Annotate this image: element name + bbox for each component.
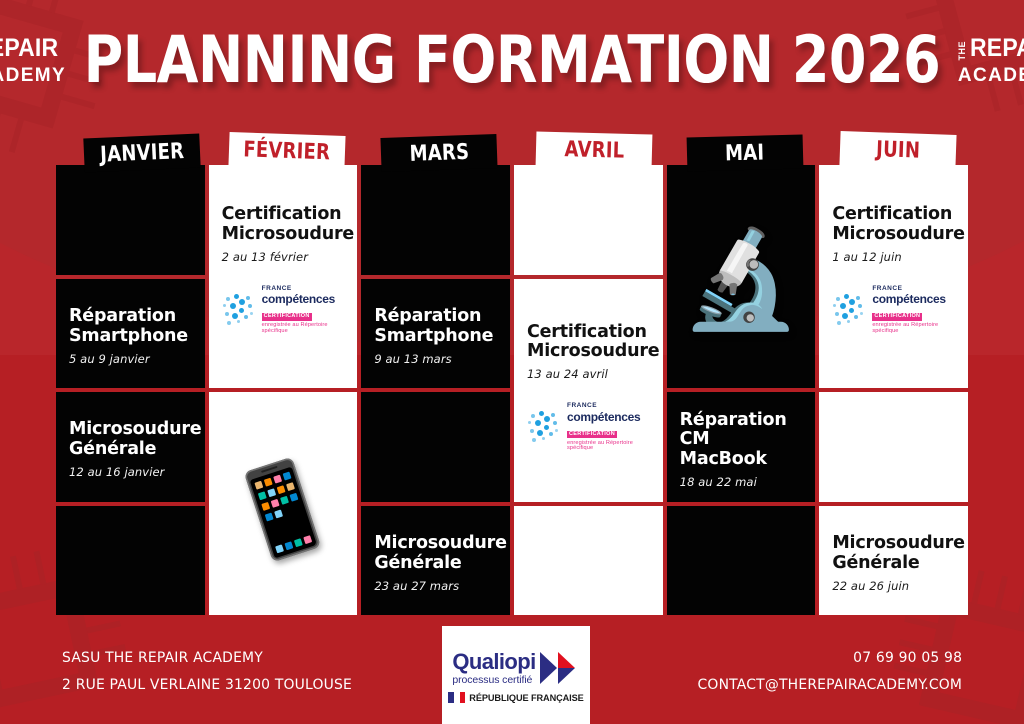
qualiopi-republic-label: RÉPUBLIQUE FRANÇAISE xyxy=(469,693,583,703)
event-date: 9 au 13 mars xyxy=(374,352,497,366)
event-title: Microsoudure Générale xyxy=(374,534,497,574)
event-date: 23 au 27 mars xyxy=(374,579,497,593)
french-flag-icon xyxy=(448,692,465,703)
month-label: JUIN xyxy=(876,137,921,164)
month-tab-janvier[interactable]: JANVIER xyxy=(83,133,200,172)
month-tab-avril[interactable]: AVRIL xyxy=(536,131,653,168)
event-date: 5 au 9 janvier xyxy=(69,352,192,366)
fc-certification-badge: CERTIFICATION xyxy=(262,313,312,321)
event-title: Réparation Smartphone xyxy=(69,307,192,347)
france-competences-logo: FRANCE compétences CERTIFICATION enregis… xyxy=(527,403,650,452)
page-header: THE REPAIR ACADEMY PLANNING FORMATION 20… xyxy=(0,0,1024,120)
event-date: 2 au 13 février xyxy=(222,250,345,264)
event-title: Réparation Smartphone xyxy=(374,307,497,347)
month-label: AVRIL xyxy=(564,137,624,164)
logo-right-repair: REPAIR xyxy=(970,36,1024,61)
fc-certification-badge: CERTIFICATION xyxy=(567,431,617,439)
fc-line-registry: enregistrée au Répertoire spécifique xyxy=(872,323,955,334)
logo-left-academy: ACADEMY xyxy=(0,66,66,85)
logo-right: THE REPAIR ACADEMY xyxy=(958,36,1024,85)
cell-juin-4[interactable]: Microsoudure Générale 22 au 26 juin xyxy=(819,506,968,616)
month-tab-mars[interactable]: MARS xyxy=(380,134,497,172)
fc-line-france: FRANCE xyxy=(567,403,650,410)
logo-right-the: THE xyxy=(958,40,967,61)
event-date: 13 au 24 avril xyxy=(527,367,650,381)
event-date: 12 au 16 janvier xyxy=(69,465,192,479)
cell-fevrier-1-2[interactable]: Certification Microsoudure 2 au 13 févri… xyxy=(209,165,358,388)
qualiopi-arrows-icon xyxy=(540,651,580,685)
cell-janvier-4[interactable] xyxy=(56,506,205,616)
month-label: MARS xyxy=(409,139,469,166)
fc-certification-badge: CERTIFICATION xyxy=(872,313,922,321)
event-title: Microsoudure Générale xyxy=(69,420,192,460)
cell-mai-3[interactable]: Réparation CM MacBook 18 au 22 mai xyxy=(667,392,816,502)
event-title: Certification Microsoudure xyxy=(527,323,650,363)
france-competences-logo: FRANCE compétences CERTIFICATION enregis… xyxy=(222,286,345,335)
footer-contact-block: 07 69 90 05 98 CONTACT@THEREPAIRACADEMY.… xyxy=(698,645,963,699)
qualiopi-name: Qualiopi xyxy=(452,651,535,673)
page-title: PLANNING FORMATION 2026 xyxy=(84,23,941,97)
footer-address: 2 RUE PAUL VERLAINE 31200 TOULOUSE xyxy=(62,672,352,699)
cell-avril-1[interactable] xyxy=(514,165,663,275)
cell-juin-3[interactable] xyxy=(819,392,968,502)
france-competences-dots-icon xyxy=(832,293,866,327)
event-title: Certification Microsoudure xyxy=(832,205,955,245)
cell-avril-4[interactable] xyxy=(514,506,663,616)
calendar-grid: Réparation Smartphone 5 au 9 janvier Mic… xyxy=(56,165,968,615)
event-title: Réparation CM MacBook xyxy=(680,411,803,470)
month-label: MAI xyxy=(725,140,765,166)
cell-mars-3[interactable] xyxy=(361,392,510,502)
month-tab-fevrier[interactable]: FÉVRIER xyxy=(228,132,345,170)
fc-line-registry: enregistrée au Répertoire spécifique xyxy=(262,323,345,334)
cell-mars-4[interactable]: Microsoudure Générale 23 au 27 mars xyxy=(361,506,510,616)
cell-janvier-1[interactable] xyxy=(56,165,205,275)
footer-address-block: SASU THE REPAIR ACADEMY 2 RUE PAUL VERLA… xyxy=(62,645,352,699)
fc-line-competences: compétences xyxy=(262,293,345,305)
logo-right-academy: ACADEMY xyxy=(958,66,1024,85)
cell-mars-2[interactable]: Réparation Smartphone 9 au 13 mars xyxy=(361,279,510,389)
fc-line-competences: compétences xyxy=(567,411,650,423)
qualiopi-subtitle: processus certifié xyxy=(452,675,535,686)
france-competences-dots-icon xyxy=(222,293,256,327)
event-date: 1 au 12 juin xyxy=(832,250,955,264)
logo-left-repair: REPAIR xyxy=(0,36,59,61)
cell-avril-2-3[interactable]: Certification Microsoudure 13 au 24 avri… xyxy=(514,279,663,502)
cell-fevrier-3-4[interactable]: 📱 xyxy=(209,392,358,615)
logo-left: THE REPAIR ACADEMY xyxy=(0,36,66,85)
microscope-emoji-icon: 🔬 xyxy=(681,232,801,328)
footer-company: SASU THE REPAIR ACADEMY xyxy=(62,645,352,672)
cell-mars-1[interactable] xyxy=(361,165,510,275)
cell-mai-1-2[interactable]: 🔬 xyxy=(667,165,816,388)
month-label: FÉVRIER xyxy=(243,137,331,165)
cell-mai-4[interactable] xyxy=(667,506,816,616)
event-title: Certification Microsoudure xyxy=(222,205,345,245)
qualiopi-logo: Qualiopi processus certifié RÉPUBLIQUE F… xyxy=(442,626,590,724)
france-competences-logo: FRANCE compétences CERTIFICATION enregis… xyxy=(832,286,955,335)
fc-line-registry: enregistrée au Répertoire spécifique xyxy=(567,441,650,452)
fc-line-competences: compétences xyxy=(872,293,955,305)
event-date: 18 au 22 mai xyxy=(680,475,803,489)
footer-email[interactable]: CONTACT@THEREPAIRACADEMY.COM xyxy=(698,672,963,699)
month-label: JANVIER xyxy=(99,139,184,168)
cell-janvier-3[interactable]: Microsoudure Générale 12 au 16 janvier xyxy=(56,392,205,502)
event-title: Microsoudure Générale xyxy=(832,534,955,574)
month-tab-juin[interactable]: JUIN xyxy=(839,131,956,169)
footer-phone[interactable]: 07 69 90 05 98 xyxy=(698,645,963,672)
month-tab-mai[interactable]: MAI xyxy=(687,134,804,171)
smartphone-emoji-icon: 📱 xyxy=(229,459,336,555)
cell-janvier-2[interactable]: Réparation Smartphone 5 au 9 janvier xyxy=(56,279,205,389)
france-competences-dots-icon xyxy=(527,410,561,444)
event-date: 22 au 26 juin xyxy=(832,579,955,593)
cell-juin-1-2[interactable]: Certification Microsoudure 1 au 12 juin xyxy=(819,165,968,388)
